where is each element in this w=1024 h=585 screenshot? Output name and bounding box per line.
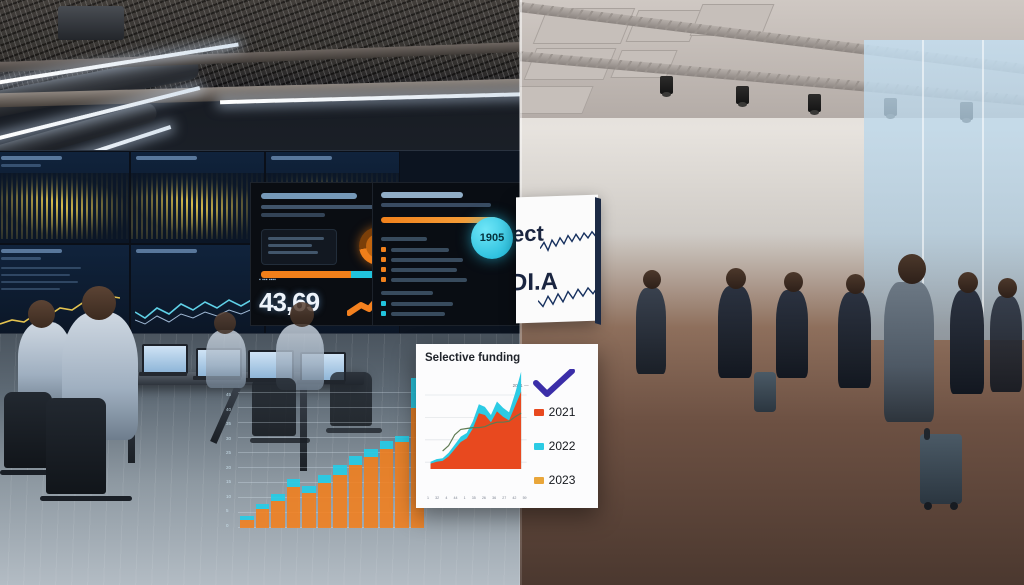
attendee [950,290,984,394]
x-tick: 44 [453,496,457,500]
legend-swatch [534,477,544,484]
board-side-edge [595,197,601,325]
bar-segment-primary [256,509,270,528]
bar-group [271,392,285,528]
bar-segment-secondary [271,494,285,501]
chart-x-axis-ticks: 1324441352636274259 [427,496,527,500]
legend-item[interactable]: 2021 [534,405,576,419]
panel-text-line [391,268,457,272]
presentation-board: ect DI.A [516,195,598,324]
bar-group [256,392,270,528]
x-tick: 36 [492,496,496,500]
chair-base [40,496,132,501]
trend-line-chart [135,290,255,330]
legend-item[interactable]: 2022 [534,439,576,453]
y-tick: 0 [226,523,231,528]
legend-swatch [534,443,544,450]
bar-group [287,392,301,528]
bar-segment-secondary [395,436,409,443]
funding-area-chart [425,367,527,479]
attendee-head [846,274,865,294]
analyst-person [206,330,246,388]
suitcase-handle [924,428,930,440]
legend-label: 2023 [549,473,576,487]
monitor-title-bar [1,156,62,160]
panel-text-line [381,237,427,241]
funding-card-body: 2021 — 1324441352636274259 2021 2022 [425,367,589,499]
legend-label: 2021 [549,405,576,419]
attendee-head [998,278,1017,298]
monitor-title-bar [1,249,62,253]
bar-segment-primary [318,483,332,528]
y-tick: 30 [226,436,231,441]
bar-group [318,392,332,528]
bar-segment-primary [333,475,347,528]
bar-segment-primary [395,442,409,528]
x-tick: 1 [427,496,429,500]
legend-dot [381,311,386,316]
bar-segment-primary [240,520,254,528]
panel-subtitle-bar [381,203,491,207]
legend-dot [381,257,386,262]
legend-dot [381,301,386,306]
laptop-screen [142,344,188,374]
rolling-suitcase [920,434,962,504]
panel-title-bar [381,192,463,198]
panel-text-line [391,278,467,282]
stage-light [660,76,673,94]
bar-chart-y-axis: 45 40 35 30 25 20 15 10 5 0 [226,392,231,528]
bar-group [240,392,254,528]
funding-chart-legend: 2021 2022 2023 [527,367,589,499]
bar-segment-primary [364,457,378,528]
bar-segment-primary [271,501,285,528]
window-mullion [982,40,984,340]
attendee-head [898,254,926,284]
bar-segment-secondary [333,465,347,475]
attendee-foreground [884,282,934,422]
checkmark-icon [533,369,575,399]
stage-light [736,86,749,104]
attendee [776,290,808,378]
rolling-suitcase [754,372,776,412]
y-tick: 5 [226,508,231,513]
legend-item[interactable]: 2023 [534,473,576,487]
secondary-dashboard-panel[interactable]: 1905 [372,182,520,326]
board-line-chart-lower [538,282,598,310]
analyst-head [28,300,55,328]
office-chair [46,398,106,494]
y-tick: 45 [226,392,231,397]
dashboard-tagline: ▪ ▪▪▪ ▪▪▪▪ [259,277,276,283]
bar-segment-primary [302,493,316,528]
stage-light [808,94,821,112]
bar-segment-primary [287,487,301,528]
bar-group [349,392,363,528]
candlestick-envelope [131,173,264,239]
attendee-head [643,270,661,289]
monitor-title-bar [271,156,332,160]
monitor-panel[interactable] [0,151,130,244]
dashboard-title-bar [261,193,357,199]
y-tick: 15 [226,479,231,484]
selective-funding-card: Selective funding 2021 — 132444135263627… [416,344,598,508]
y-tick: 10 [226,494,231,499]
suitcase-wheel [950,502,958,510]
x-tick: 4 [445,496,447,500]
legend-label: 2022 [549,439,576,453]
panel-text-line [381,291,433,295]
metric-line [268,251,318,254]
candlestick-envelope [0,173,129,239]
y-tick: 40 [226,407,231,412]
dashboard-subtitle-bar [261,205,389,209]
bar-segment-secondary [349,456,363,466]
metric-line [268,244,312,247]
monitor-text-line [1,267,81,269]
composite-scene: 28 ∙∙∙∙∙∙∙ ▪ ▪▪▪ ▪▪▪▪ 43,69 10% 1905 [0,0,1024,585]
bar-segment-secondary [380,441,394,449]
bar-group [333,392,347,528]
kpi-circle-badge: 1905 [471,217,513,259]
x-tick: 27 [502,496,506,500]
monitor-panel[interactable] [130,151,265,244]
bar-segment-primary [380,449,394,528]
bar-group [364,392,378,528]
bar-group [395,392,409,528]
analyst-head [290,302,314,327]
bar-segment-secondary [256,504,270,509]
legend-dot [381,277,386,282]
ceiling-hvac-unit [58,6,124,40]
monitor-text-line [1,281,78,283]
x-tick: 42 [512,496,516,500]
monitor-panel[interactable] [130,244,265,334]
analyst-head [214,312,236,334]
panel-text-line [391,312,445,316]
attendee-head [784,272,803,292]
overlay-bar-chart: 45 40 35 30 25 20 15 10 5 0 [228,392,424,528]
legend-swatch [534,409,544,416]
bar-segment-secondary [287,479,301,487]
attendee [838,292,871,388]
bar-segment-primary [349,465,363,528]
bar-group [380,392,394,528]
board-line-chart-upper [540,228,598,256]
y-tick: 25 [226,450,231,455]
analyst-head [82,286,116,320]
y-tick: 35 [226,421,231,426]
monitor-text-line [1,274,70,276]
attendee [990,296,1022,392]
y-tick: 20 [226,465,231,470]
monitor-title-bar [136,249,197,253]
panel-text-line [391,248,449,252]
bar-chart-bars [240,392,424,528]
suitcase-wheel [924,502,932,510]
monitor-subtitle-bar [1,257,41,260]
funding-card-title: Selective funding [425,352,589,364]
attendee-head [726,268,746,289]
x-tick: 1 [464,496,466,500]
x-tick: 26 [482,496,486,500]
monitor-title-bar [136,156,197,160]
x-tick: 32 [435,496,439,500]
legend-dot [381,267,386,272]
attendee [718,286,752,378]
dashboard-metric-card[interactable] [261,229,337,265]
ceiling-tile [520,86,594,114]
bar-segment-secondary [318,475,332,483]
attendee [636,288,666,374]
metric-line [268,237,324,240]
dashboard-subtitle-bar [261,213,325,217]
panel-text-line [391,302,453,306]
bar-segment-secondary [364,449,378,457]
monitor-subtitle-bar [1,164,41,167]
bar-segment-secondary [240,516,254,520]
laptop-base [139,372,187,376]
bar-group [302,392,316,528]
bar-segment-secondary [302,486,316,493]
office-chair [4,392,52,468]
attendee-head [958,272,978,293]
panel-text-line [391,258,463,262]
funding-chart-plot: 2021 — 1324441352636274259 [425,367,527,499]
legend-dot [381,247,386,252]
x-tick: 35 [472,496,476,500]
